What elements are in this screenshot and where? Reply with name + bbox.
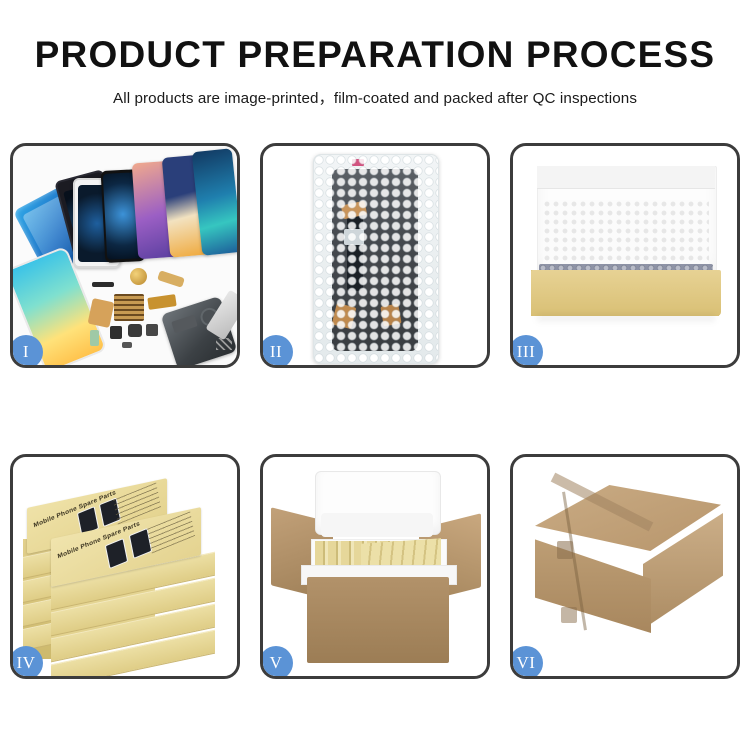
step-badge-6: VI: [510, 646, 543, 679]
page-title: PRODUCT PREPARATION PROCESS: [0, 36, 750, 75]
page-header: PRODUCT PREPARATION PROCESS All products…: [0, 0, 750, 108]
bubble-wrap-bag: [313, 154, 439, 364]
pink-label: [352, 159, 364, 166]
step-badge-4: IV: [10, 646, 43, 679]
carton-body: [307, 577, 449, 663]
step-numeral: I: [23, 342, 29, 362]
black-bar-part: [92, 282, 114, 287]
box-shadow: [537, 314, 715, 322]
step-frame: Mobile Phone Spare Parts Mobile Phone Sp…: [10, 454, 240, 679]
camera-module-part: [110, 326, 122, 339]
step-numeral: III: [517, 342, 535, 362]
step-frame: III: [510, 143, 740, 368]
speaker-part: [146, 324, 158, 336]
step-frame: I: [10, 143, 240, 368]
yellow-box-tray: [531, 270, 721, 316]
process-step-5[interactable]: V: [260, 454, 490, 679]
flex-cable-part-1: [88, 298, 115, 328]
step-badge-3: III: [510, 335, 543, 368]
process-step-2[interactable]: II: [260, 143, 490, 368]
step-badge-5: V: [260, 646, 293, 679]
screws-part: [216, 338, 232, 350]
gold-part-icon: [130, 268, 147, 285]
step-frame: V: [260, 454, 490, 679]
step-numeral: II: [270, 342, 282, 362]
step-photo-bubble-wrapped-screen: [263, 146, 487, 365]
button-part: [122, 342, 132, 348]
step-photo-phone-parts: [13, 146, 237, 365]
step-numeral: V: [270, 653, 283, 673]
box-spec-lines-2: [147, 511, 195, 553]
carton-label-patch-2: [561, 607, 577, 623]
sim-tray-part: [90, 330, 99, 346]
carton-label-patch-1: [557, 541, 573, 559]
camera-module-part-2: [128, 324, 142, 337]
page-root: PRODUCT PREPARATION PROCESS All products…: [0, 0, 750, 750]
step-numeral: IV: [17, 653, 36, 673]
phone-fan-group: [73, 156, 233, 266]
step-badge-2: II: [260, 335, 293, 368]
process-step-4[interactable]: Mobile Phone Spare Parts Mobile Phone Sp…: [10, 454, 240, 679]
step-photo-stacked-boxes: Mobile Phone Spare Parts Mobile Phone Sp…: [13, 457, 237, 676]
box-screen-thumb-3: [105, 538, 128, 569]
page-subtitle: All products are image-printed，film-coat…: [0, 86, 750, 108]
process-step-3[interactable]: III: [510, 143, 740, 368]
step-photo-open-yellow-box: [513, 146, 737, 365]
step-badge-1: I: [10, 335, 43, 368]
spare-parts-cluster: [88, 264, 237, 360]
process-step-6[interactable]: VI: [510, 454, 740, 679]
foam-lid-edge: [321, 513, 433, 537]
step-photo-sealed-carton: [513, 457, 737, 676]
protective-tape-3: [380, 304, 401, 327]
flex-cable-part-2: [147, 294, 176, 310]
process-step-1[interactable]: I: [10, 143, 240, 368]
lcd-flex-cable: [347, 213, 363, 291]
step-frame: VI: [510, 454, 740, 679]
connector-grid-part: [114, 294, 144, 321]
step-numeral: VI: [517, 653, 536, 673]
flex-cable-part-3: [157, 270, 185, 288]
lcd-connector: [344, 229, 364, 245]
step-photo-open-carton: [263, 457, 487, 676]
foam-lid-fold: [537, 166, 715, 189]
process-step-grid: I: [10, 143, 740, 679]
step-frame: II: [260, 143, 490, 368]
